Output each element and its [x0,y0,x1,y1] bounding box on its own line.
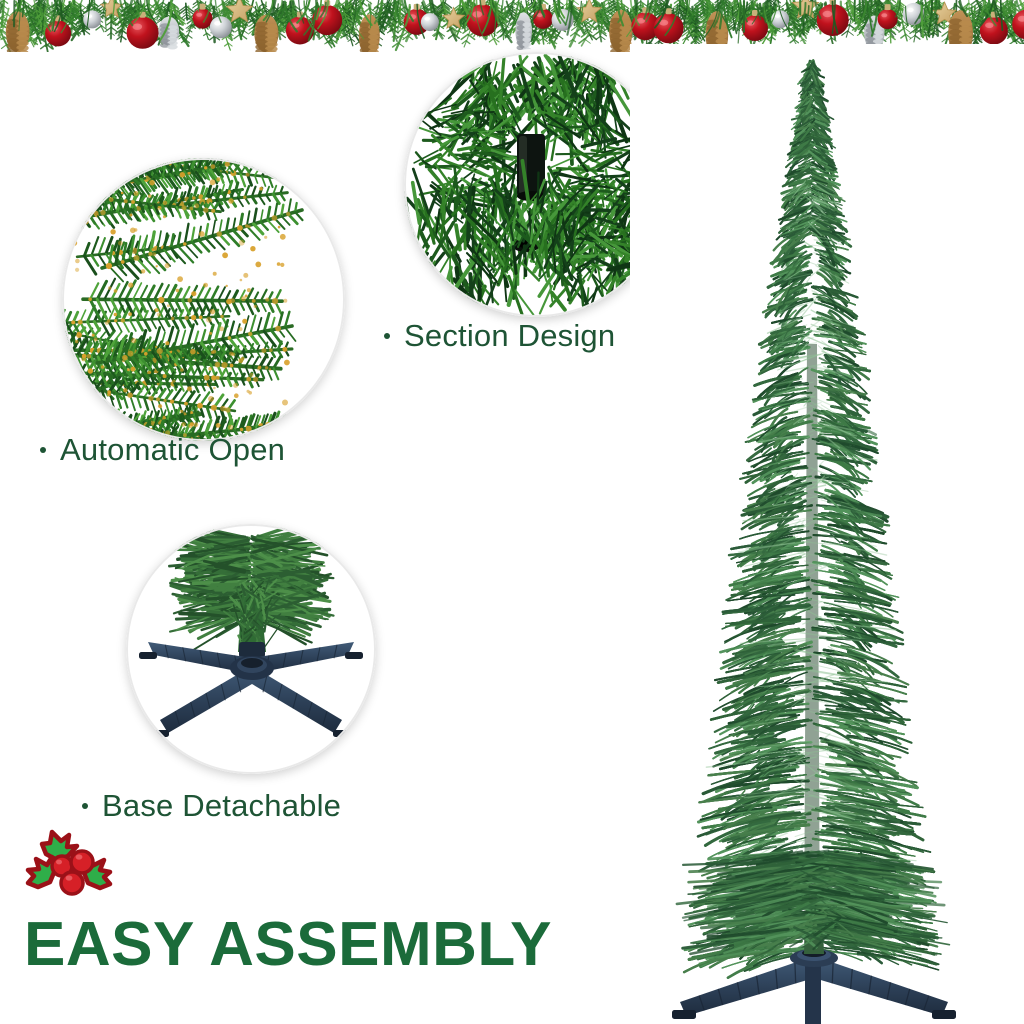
bullet-dot-icon [40,447,46,453]
feature-label-base-detachable: Base Detachable [82,788,341,824]
bullet-dot-icon [82,803,88,809]
inset-base-detachable [126,524,376,774]
inset-automatic-open [62,158,345,441]
feature-label-text: Base Detachable [102,788,341,824]
feature-label-text: Automatic Open [60,432,285,468]
infographic-canvas: Section Design Automatic Open Base Detac… [0,0,1024,1024]
page-headline: EASY ASSEMBLY [24,914,552,976]
feature-label-text: Section Design [404,318,615,354]
feature-label-section-design: Section Design [384,318,615,354]
product-image-pencil-christmas-tree [630,44,1024,1024]
holly-berries-icon [22,826,118,910]
bullet-dot-icon [384,333,390,339]
feature-label-automatic-open: Automatic Open [40,432,285,468]
